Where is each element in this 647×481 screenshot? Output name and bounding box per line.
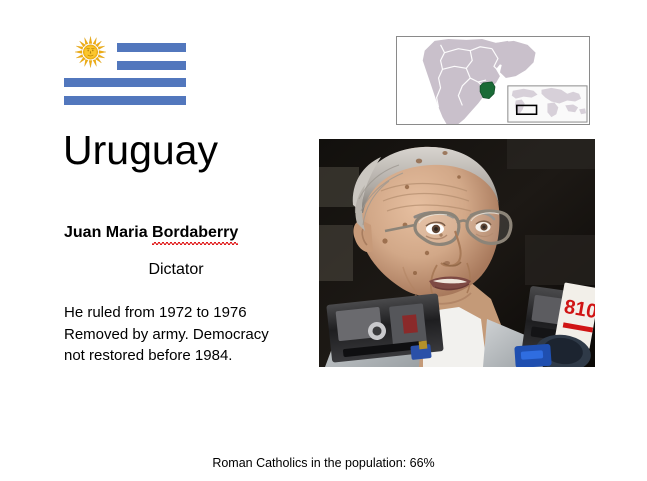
flag-stripe-2 <box>117 61 186 70</box>
bio-line-1: He ruled from 1972 to 1976 <box>64 302 304 324</box>
recorder-device-left <box>326 293 443 362</box>
locator-map-south-america <box>396 36 590 125</box>
world-map-inset <box>508 86 587 122</box>
map-graphic <box>397 37 589 124</box>
bio-line-3: not restored before 1984. <box>64 345 304 367</box>
person-name-first: Juan Maria <box>64 224 152 241</box>
person-name-surname-misspelled: Bordaberry <box>152 223 238 243</box>
flag-of-uruguay <box>64 34 186 105</box>
flag-stripe-4 <box>64 96 186 105</box>
person-role: Dictator <box>64 260 288 280</box>
flag-stripe-3 <box>64 78 186 87</box>
person-name: Juan Maria Bordaberry <box>64 223 238 243</box>
sol-de-mayo-sun-icon <box>68 35 113 69</box>
flag-stripe-1 <box>117 43 186 52</box>
portrait-photo-graphic: 810 <box>319 139 595 367</box>
portrait-photo-juan-maria-bordaberry: 810 <box>319 139 595 367</box>
footer-note: Roman Catholics in the population: 66% <box>0 455 647 471</box>
presentation-slide: Uruguay Juan Maria Bordaberry Dictator H… <box>0 0 647 481</box>
page-title: Uruguay <box>63 126 218 174</box>
person-bio: He ruled from 1972 to 1976 Removed by ar… <box>64 302 304 367</box>
bio-line-2: Removed by army. Democracy <box>64 324 304 346</box>
